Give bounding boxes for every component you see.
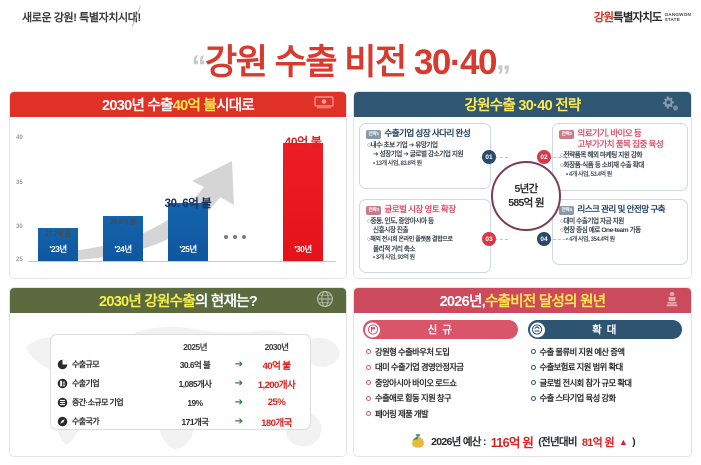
panel-strategy-title: 강원수출 30·40 전략 bbox=[464, 94, 580, 115]
bar-value-2023: 27.7억 불 bbox=[13, 229, 103, 239]
quote-open-icon: “ bbox=[192, 50, 206, 83]
logo-subtext: GANGWON STATE bbox=[665, 12, 691, 23]
list-item: 강원형 수출바우처 도입 bbox=[366, 344, 518, 360]
panel-2026-plan: 2026년, 수출비전 달성의 원년 신 규 강원형 수출바우처 도입 대미 수… bbox=[353, 287, 692, 457]
strategy-3-line-4: 물리적 거리 축소 bbox=[366, 245, 485, 255]
strategy-box-3: 전략3 글로벌 시장 영토 확장 ○중동, 인도, 중앙아시아 등 신흥시장 진… bbox=[359, 199, 491, 273]
strategy-node-03: 03 bbox=[482, 232, 496, 246]
list-item: 수출 스타기업 육성 강화 bbox=[531, 391, 683, 407]
table-row: 수출기업 1,085개사 ➔ 1,200개사 bbox=[57, 374, 304, 393]
panel-current-title-suffix: 의 현재는? bbox=[195, 290, 257, 311]
budget-compare-close: ) bbox=[632, 436, 635, 448]
logo-wordmark: 강원특별자치도 bbox=[594, 9, 662, 25]
panel-chart-title-prefix: 2030년 수출 bbox=[102, 94, 173, 115]
strategy-1-line-3: • 13개 사업, 83.6억 원 bbox=[366, 160, 485, 169]
table-header-row: 2025년 2030년 bbox=[57, 339, 304, 355]
bullet-dot-icon bbox=[366, 365, 371, 370]
expand-item-1: 수출보험료 지원 범위 확대 bbox=[540, 361, 623, 373]
panel-chart-title-highlight: 40억 불 bbox=[173, 94, 216, 115]
new-item-3: 수출애로 합동 지원 창구 bbox=[375, 392, 451, 404]
gear-icon bbox=[659, 94, 679, 116]
row-future-3: 180개국 bbox=[249, 415, 304, 429]
row-label-export-scale: 수출규모 bbox=[57, 359, 161, 370]
budget-circle-line1: 5년간 bbox=[514, 182, 537, 196]
row-future-0: 40억 불 bbox=[249, 358, 304, 372]
list-item: 페어링 제품 개발 bbox=[366, 406, 518, 422]
pie-chart-icon bbox=[57, 359, 68, 370]
y-tick-25: 25 bbox=[16, 257, 23, 263]
row-arrow-3: ➔ bbox=[229, 416, 249, 427]
y-tick-35: 35 bbox=[16, 180, 23, 186]
row-now-1: 1,085개사 bbox=[161, 378, 229, 390]
strategy-box-2: 전략2 의료기기, 바이오 등 고부가가치 품목 집중 육성 ○전략품목 해외 … bbox=[552, 123, 688, 191]
row-label-text-3: 수출국가 bbox=[72, 416, 99, 427]
compass-icon bbox=[57, 416, 68, 427]
row-arrow-0: ➔ bbox=[229, 359, 249, 370]
top-bar: 새로운 강원! 특별자치시대! 강원특별자치도 GANGWON STATE bbox=[0, 0, 701, 32]
strategy-node-04: 04 bbox=[537, 232, 551, 246]
new-pill: 신 규 bbox=[363, 320, 518, 339]
bar-value-2024: 28.8억 불 bbox=[78, 217, 168, 227]
strategy-node-01: 01 bbox=[482, 150, 496, 164]
strategy-1-line-2: ➔ 성장기업 ➔ 글로벌 강소기업 지원 bbox=[366, 150, 485, 160]
page-title: “강원 수출 비전 30·40” bbox=[0, 34, 701, 94]
strategy-body: 5년간 585억 원 01 02 03 04 전략1 수출기업 성장 사다리 완… bbox=[354, 117, 691, 279]
row-now-0: 30.6억 불 bbox=[161, 359, 229, 371]
bullet-dot-icon bbox=[366, 380, 371, 385]
quote-close-icon: ” bbox=[496, 60, 510, 93]
list-item: 수출보험료 지원 범위 확대 bbox=[531, 360, 683, 376]
budget-circle-line2: 585억 원 bbox=[508, 196, 544, 210]
current-status-table: 2025년 2030년 수출규모 30.6억 불 ➔ 40억 불 bbox=[50, 334, 311, 430]
panel-2026-title-prefix: 2026년, bbox=[440, 290, 485, 311]
row-arrow-1: ➔ bbox=[229, 378, 249, 389]
expand-items-list: 수출 물류비 지원 예산 증액 수출보험료 지원 범위 확대 글로벌 전시회 참… bbox=[528, 344, 683, 406]
list-item: 중앙아시아 바이오 로드쇼 bbox=[366, 375, 518, 391]
strategy-title-2-line2: 고부가가치 품목 집중 육성 bbox=[577, 139, 663, 149]
tagline: 새로운 강원! 특별자치시대! bbox=[22, 9, 141, 25]
list-item: 대미 수출기업 경영안정자금 bbox=[366, 360, 518, 376]
strategy-4-line-1: ○대미 수출기업 자금 지원 bbox=[559, 217, 682, 227]
strategy-box-4: 전략4 리스크 관리 및 안전망 구축 ○대미 수출기업 자금 지원 ○현장 중… bbox=[552, 199, 688, 265]
budget-amount: 116억 원 bbox=[491, 432, 533, 451]
chart-ellipsis bbox=[224, 235, 246, 239]
page-title-text: 강원 수출 비전 30·40 bbox=[205, 43, 496, 82]
table-row: 수출규모 30.6억 불 ➔ 40억 불 bbox=[57, 355, 304, 374]
new-items-list: 강원형 수출바우처 도입 대미 수출기업 경영안정자금 중앙아시아 바이오 로드… bbox=[363, 344, 518, 422]
row-arrow-2: ➔ bbox=[229, 397, 249, 408]
bullet-dot-icon bbox=[366, 396, 371, 401]
bar-label-2025: '25년 bbox=[168, 243, 208, 255]
bullet-dot-icon bbox=[366, 411, 371, 416]
strategy-badge-4: 전략4 bbox=[559, 206, 574, 215]
budget-compare-amount: 81억 원 bbox=[582, 434, 614, 450]
strategy-4-line-2: ○현장 중심 애로 One-team 가동 bbox=[559, 226, 682, 236]
new-item-0: 강원형 수출바우처 도입 bbox=[375, 346, 449, 358]
panel-current-header: 2030년 강원수출의 현재는? bbox=[10, 288, 346, 313]
expand-pill: 확 대 bbox=[528, 320, 683, 339]
row-now-2: 19% bbox=[161, 398, 229, 408]
bullet-dot-icon bbox=[531, 380, 536, 385]
strategy-title-2-line1: 의료기기, 바이오 등 bbox=[577, 128, 641, 138]
row-future-1: 1,200개사 bbox=[249, 377, 304, 391]
strategy-box-2-title-row: 전략2 의료기기, 바이오 등 고부가가치 품목 집중 육성 bbox=[559, 128, 682, 149]
panel-strategy: 강원수출 30·40 전략 5년간 585억 원 01 02 03 04 bbox=[353, 91, 692, 279]
money-bag-icon bbox=[410, 433, 426, 451]
strategy-2-line-1: ○전략품목 해외 마케팅 지원 강화 bbox=[559, 151, 682, 161]
bar-value-2025: 30. 6억 불 bbox=[133, 195, 243, 211]
list-item: 글로벌 전시회 참가 규모 확대 bbox=[531, 375, 683, 391]
budget-line: 2026년 예산 : 116억 원(전년대비 81억 원▲) bbox=[354, 432, 691, 451]
strategy-3-line-5: • 3개 사업, 93억 원 bbox=[366, 254, 485, 263]
list-item: 수출 물류비 지원 예산 증액 bbox=[531, 344, 683, 360]
new-pill-label: 신 규 bbox=[428, 322, 453, 337]
row-label-export-countries: 수출국가 bbox=[57, 416, 161, 427]
panel-current-status: 2030년 강원수출의 현재는? bbox=[9, 287, 347, 457]
strategy-2-line-3: • 4개 사업, 53.4억 원 bbox=[559, 171, 682, 180]
row-label-midsize-smes: 중간·소규모 기업 bbox=[57, 397, 161, 408]
flag-icon bbox=[365, 322, 380, 337]
factory-icon bbox=[57, 378, 68, 389]
panel-2026-title-highlight: 수출비전 달성의 원년 bbox=[485, 290, 605, 311]
strategy-box-3-title-row: 전략3 글로벌 시장 영토 확장 bbox=[366, 204, 485, 215]
row-label-text-2: 중간·소규모 기업 bbox=[72, 397, 123, 408]
bullet-dot-icon bbox=[366, 349, 371, 354]
row-label-text-0: 수출규모 bbox=[72, 359, 99, 370]
panel-chart-title-suffix: 시대로 bbox=[216, 94, 254, 115]
chart-baseline bbox=[28, 261, 336, 262]
infographic-page: 새로운 강원! 특별자치시대! 강원특별자치도 GANGWON STATE “강… bbox=[0, 0, 701, 465]
panel-chart-header: 2030년 수출 40억 불 시대로 bbox=[10, 92, 346, 117]
budget-arrow-up-icon: ▲ bbox=[619, 437, 627, 447]
row-label-export-companies: 수출기업 bbox=[57, 378, 161, 389]
strategy-4-line-3: • 4개 사업, 354.4억 원 bbox=[559, 236, 682, 245]
strategy-box-4-title-row: 전략4 리스크 관리 및 안전망 구축 bbox=[559, 204, 682, 215]
strategy-badge-3: 전략3 bbox=[366, 206, 381, 215]
row-now-3: 171개국 bbox=[161, 416, 229, 428]
bar-2030: '30년 bbox=[283, 143, 323, 261]
list-item: 수출애로 합동 지원 창구 bbox=[366, 391, 518, 407]
bar-2025: '25년 bbox=[168, 203, 208, 261]
expand-icon bbox=[530, 322, 545, 337]
gangwon-logo: 강원특별자치도 GANGWON STATE bbox=[594, 9, 691, 25]
bullet-dot-icon bbox=[531, 365, 536, 370]
strategy-1-line-1: ○내수·초보 기업 ➔ 유망기업 bbox=[366, 141, 485, 151]
bar-label-2030: '30년 bbox=[283, 243, 323, 255]
expand-item-2: 글로벌 전시회 참가 규모 확대 bbox=[540, 377, 632, 389]
panel-export-2030-chart: 2030년 수출 40억 불 시대로 40 35 30 25 '23년 27.7… bbox=[9, 91, 347, 279]
table-row: 수출국가 171개국 ➔ 180개국 bbox=[57, 412, 304, 431]
bullet-dot-icon bbox=[531, 349, 536, 354]
table-header-2030: 2030년 bbox=[249, 341, 304, 353]
strategy-3-line-3: ○해외 전시회 온라인 플랫폼 결합으로 bbox=[366, 236, 485, 245]
building-icon bbox=[57, 397, 68, 408]
table-row: 중간·소규모 기업 19% ➔ 25% bbox=[57, 393, 304, 412]
strategy-node-02: 02 bbox=[537, 150, 551, 164]
budget-prefix: 2026년 예산 : bbox=[431, 434, 486, 449]
new-item-2: 중앙아시아 바이오 로드쇼 bbox=[375, 377, 456, 389]
new-item-4: 페어링 제품 개발 bbox=[375, 408, 428, 420]
budget-compare-open: (전년대비 bbox=[538, 434, 577, 449]
strategy-box-1-title-row: 전략1 수출기업 성장 사다리 완성 bbox=[366, 128, 485, 139]
row-future-2: 25% bbox=[249, 397, 304, 408]
budget-circle: 5년간 585억 원 bbox=[491, 161, 561, 231]
new-item-1: 대미 수출기업 경영안정자금 bbox=[375, 361, 464, 373]
expand-item-0: 수출 물류비 지원 예산 증액 bbox=[540, 346, 625, 358]
panel-strategy-header: 강원수출 30·40 전략 bbox=[354, 92, 691, 117]
panel-2026-header: 2026년, 수출비전 달성의 원년 bbox=[354, 288, 691, 313]
strategy-title-4: 리스크 관리 및 안전망 구축 bbox=[577, 204, 665, 215]
bar-label-2024: '24년 bbox=[103, 243, 143, 255]
money-icon bbox=[314, 96, 334, 114]
panel-2026-body: 신 규 강원형 수출바우처 도입 대미 수출기업 경영안정자금 중앙아시아 바이… bbox=[354, 313, 691, 457]
globe-icon bbox=[316, 290, 334, 312]
strategy-badge-2: 전략2 bbox=[559, 130, 574, 139]
trophy-icon bbox=[665, 291, 679, 311]
strategy-badge-1: 전략1 bbox=[366, 130, 381, 139]
bar-label-2023: '23년 bbox=[38, 243, 78, 255]
strategy-title-1: 수출기업 성장 사다리 완성 bbox=[384, 128, 470, 139]
strategy-3-line-2: 신흥시장 진출 bbox=[366, 226, 485, 236]
expand-pill-label: 확 대 bbox=[592, 322, 617, 337]
strategy-title-3: 글로벌 시장 영토 확장 bbox=[384, 204, 455, 215]
bar-value-2030: 40억 불 bbox=[253, 133, 347, 150]
bar-chart: 40 35 30 25 '23년 27.7억 불 '24년 28.8억 불 '2… bbox=[10, 117, 346, 279]
expand-item-3: 수출 스타기업 육성 강화 bbox=[540, 392, 616, 404]
bullet-dot-icon bbox=[531, 396, 536, 401]
table-header-2025: 2025년 bbox=[161, 341, 229, 353]
row-label-text-1: 수출기업 bbox=[72, 378, 99, 389]
logo-sub-line1: GANGWON bbox=[665, 12, 691, 17]
logo-sub-line2: STATE bbox=[665, 17, 680, 22]
panel-current-title-prefix: 2030년 강원수출 bbox=[99, 290, 195, 311]
strategy-box-1: 전략1 수출기업 성장 사다리 완성 ○내수·초보 기업 ➔ 유망기업 ➔ 성장… bbox=[359, 123, 491, 189]
strategy-3-line-1: ○중동, 인도, 중앙아시아 등 bbox=[366, 217, 485, 227]
strategy-2-line-2: ○화장품·식품 등 소비재 수출 확대 bbox=[559, 161, 682, 171]
y-tick-40: 40 bbox=[16, 135, 23, 141]
strategy-title-2: 의료기기, 바이오 등 고부가가치 품목 집중 육성 bbox=[577, 128, 663, 149]
